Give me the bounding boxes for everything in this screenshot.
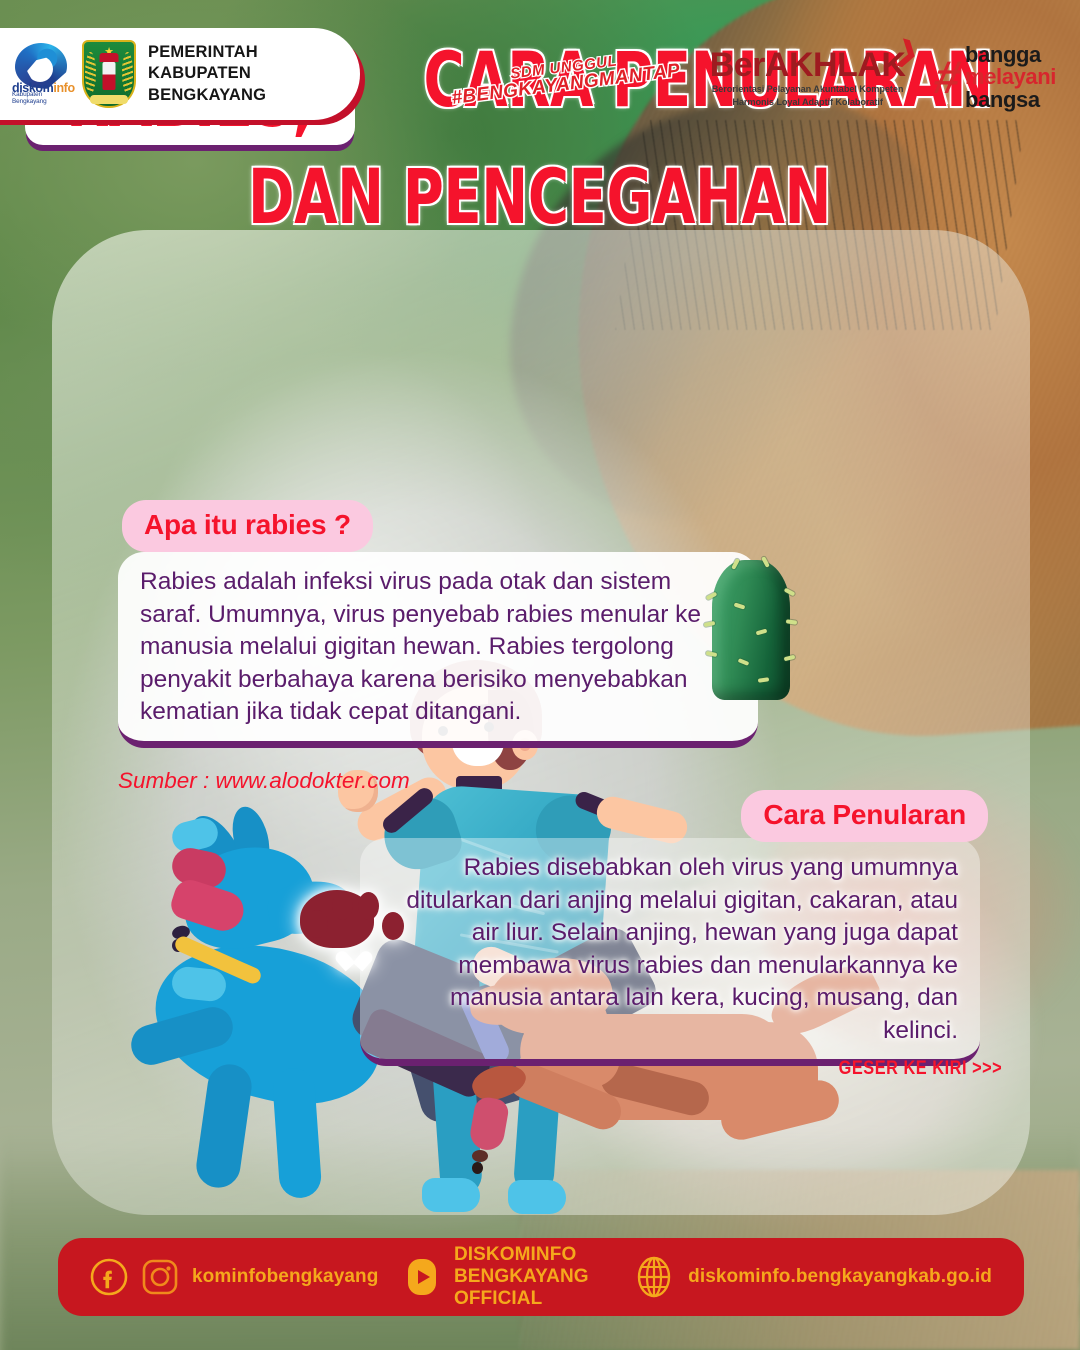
title-line-2: DAN PENCEGAHAN (0, 161, 1080, 234)
government-logo-bar: diskominfo Kabupaten Bengkayang ★ PEMERI… (0, 28, 360, 120)
sdm-unggul-logo: SDM UNGGUL #BENGKAYANGMANTAP (448, 45, 681, 110)
source-citation: Sumber : www.alodokter.com (118, 768, 410, 794)
campaign-logos: SDM UNGGUL #BENGKAYANGMANTAP BerAKHLAK ❯… (450, 44, 1056, 111)
diskominfo-logo-icon: diskominfo Kabupaten Bengkayang (12, 43, 70, 105)
section-2-textbox: Rabies disebabkan oleh virus yang umumny… (360, 838, 980, 1066)
bangga-word-2: melayani (965, 66, 1056, 88)
paw-heart-icon (344, 948, 368, 970)
section-2-body: Rabies disebabkan oleh virus yang umumny… (406, 854, 958, 1044)
brown-dog-tongue (468, 1095, 511, 1152)
hashtag-icon: # (932, 59, 965, 96)
paw-toe-3 (358, 892, 379, 920)
crest-rice-left (85, 52, 96, 94)
facebook-handle[interactable]: kominfobengkayang (192, 1266, 378, 1288)
section-2-label: Cara Penularan (741, 790, 988, 842)
brown-dog-nose (472, 1150, 488, 1162)
footer-contact-bar: kominfobengkayang DISKOMINFO BENGKAYANG … (58, 1238, 1024, 1316)
website-url[interactable]: diskominfo.bengkayangkab.go.id (688, 1266, 992, 1288)
bangga-melayani-bangsa-logo: # bangga melayani bangsa (935, 44, 1056, 111)
gov-line-1: PEMERINTAH (148, 42, 266, 63)
youtube-icon[interactable] (403, 1255, 441, 1299)
bengkayang-crest-icon: ★ (82, 40, 136, 108)
cara-penularan-pill: Cara Penularan (741, 790, 988, 842)
berakhlak-sub-2: Harmonis Loyal Adaptif Kolaboratif (710, 98, 906, 107)
paw-toe-4 (382, 912, 404, 940)
diskominfo-sublabel: Kabupaten Bengkayang (12, 91, 70, 105)
section-1-body: Rabies adalah infeksi virus pada otak da… (140, 568, 701, 725)
title-line2-text: DAN PENCEGAHAN (248, 161, 831, 234)
paw-toe-1 (306, 910, 328, 938)
globe-icon[interactable] (633, 1254, 675, 1300)
berakhlak-sub-1: Berorientasi Pelayanan Akuntabel Kompete… (710, 85, 906, 94)
bangga-word-1: bangga (965, 44, 1056, 66)
gov-line-2: KABUPATEN (148, 63, 266, 84)
brown-dog-eye (472, 1162, 483, 1174)
crest-tower (103, 62, 116, 90)
blue-dog-leg-a (194, 1062, 255, 1191)
youtube-handle[interactable]: DISKOMINFO BENGKAYANG OFFICIAL (454, 1244, 611, 1310)
section-1-textbox: Rabies adalah infeksi virus pada otak da… (118, 552, 758, 748)
cactus-body (712, 560, 790, 700)
berakhlak-wordmark: BerAKHLAK ❯ (710, 48, 906, 82)
gov-line-3: BENGKAYANG (148, 85, 266, 106)
berakhlak-logo: BerAKHLAK ❯ Berorientasi Pelayanan Akunt… (710, 48, 906, 106)
instagram-icon[interactable] (141, 1258, 179, 1296)
bangga-words: bangga melayani bangsa (965, 44, 1056, 111)
berakhlak-text: BerAKHLAK (710, 46, 906, 84)
blue-dog-leg-b (272, 1067, 323, 1200)
youtube-group[interactable]: DISKOMINFO BENGKAYANG OFFICIAL (403, 1244, 611, 1310)
government-name: PEMERINTAH KABUPATEN BENGKAYANG (148, 42, 266, 105)
paw-print-icon (300, 890, 410, 995)
facebook-instagram-group[interactable]: kominfobengkayang (90, 1258, 378, 1296)
apa-itu-rabies-pill: Apa itu rabies ? (122, 500, 373, 552)
bangga-word-3: bangsa (965, 89, 1056, 111)
paw-toe-2 (332, 892, 353, 920)
crest-rice-right (122, 52, 133, 94)
facebook-icon[interactable] (90, 1258, 128, 1296)
website-group[interactable]: diskominfo.bengkayangkab.go.id (633, 1254, 992, 1300)
swipe-hint: GESER KE KIRI >>> (838, 1058, 1002, 1080)
crest-band (90, 95, 128, 104)
cactus-illustration (712, 560, 790, 700)
section-1-label: Apa itu rabies ? (122, 500, 373, 552)
